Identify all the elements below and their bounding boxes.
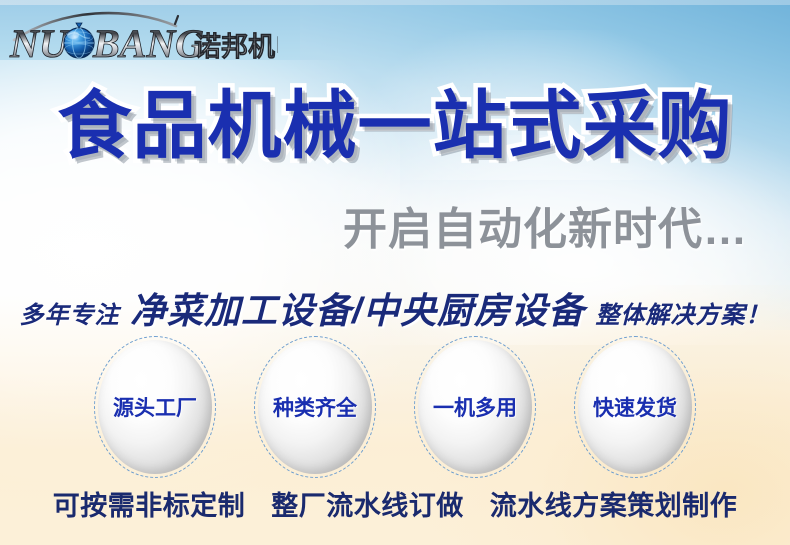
company-logo[interactable]: NU BANG 诺邦机电 [8, 10, 278, 62]
logo-text-nu: NU [9, 21, 70, 62]
tagline-row: 多年专注 净菜加工设备/中央厨房设备 整体解决方案！ [0, 282, 790, 334]
feature-circle-1[interactable]: 源头工厂 [98, 340, 212, 474]
headline-main: 食品机械一站式采购 [0, 84, 790, 168]
bottom-service-1: 可按需非标定制 [53, 491, 246, 521]
tagline-prefix: 多年专注 [20, 302, 120, 329]
logo-artwork: NU BANG 诺邦机电 [8, 10, 278, 62]
feature-circle-2[interactable]: 种类齐全 [258, 340, 372, 474]
globe-icon [64, 23, 94, 58]
headline-sub: 开启自动化新时代… [343, 204, 748, 256]
feature-circle-row: 源头工厂 种类齐全 一机多用 快速发货 [0, 336, 790, 478]
feature-label-2: 种类齐全 [258, 392, 372, 422]
logo-text-bang: BANG [92, 21, 204, 62]
feature-label-4: 快速发货 [578, 392, 692, 422]
promo-banner: NU BANG 诺邦机电 食品机械一站式采购 开启自动化新时代… 多年专 [0, 0, 790, 545]
tagline-suffix: 整体解决方案！ [595, 302, 770, 329]
feature-circle-4[interactable]: 快速发货 [578, 340, 692, 474]
feature-circle-3[interactable]: 一机多用 [418, 340, 532, 474]
bottom-services-row: 可按需非标定制 整厂流水线订做 流水线方案策划制作 [0, 484, 790, 523]
tagline-main: 净菜加工设备/中央厨房设备 [130, 290, 585, 331]
feature-label-1: 源头工厂 [98, 392, 212, 422]
feature-label-3: 一机多用 [418, 392, 532, 422]
logo-text-chinese: 诺邦机电 [194, 32, 278, 62]
bottom-service-3: 流水线方案策划制作 [490, 491, 738, 521]
bottom-service-2: 整厂流水线订做 [271, 491, 464, 521]
top-edge-stripe [0, 0, 790, 5]
